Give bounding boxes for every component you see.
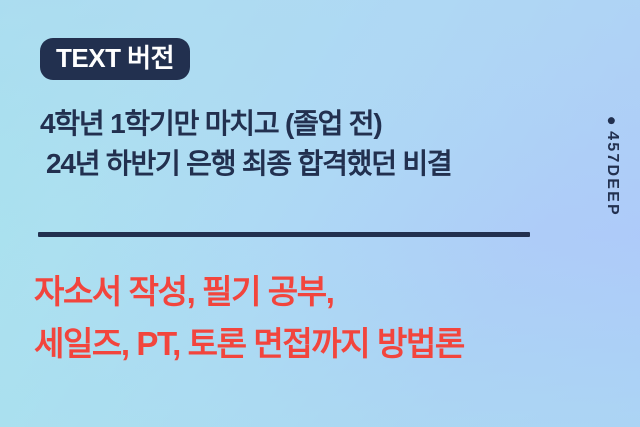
- subheadline-block: 자소서 작성, 필기 공부, 세일즈, PT, 토론 면접까지 방법론: [34, 266, 614, 370]
- subheadline-line-1: 자소서 작성, 필기 공부,: [34, 266, 614, 318]
- brand-name: 457DEEP: [603, 131, 621, 217]
- poster-canvas: TEXT 버전 4학년 1학기만 마치고 (졸업 전) 24년 하반기 은행 최…: [0, 0, 640, 427]
- brand-vertical-label: 457DEEP: [603, 117, 621, 217]
- bullet-dot-icon: [609, 117, 616, 124]
- text-version-badge: TEXT 버전: [40, 38, 190, 80]
- headline-block: 4학년 1학기만 마치고 (졸업 전) 24년 하반기 은행 최종 합격했던 비…: [40, 104, 560, 184]
- subheadline-line-2: 세일즈, PT, 토론 면접까지 방법론: [34, 318, 614, 370]
- badge-container: TEXT 버전: [40, 38, 190, 80]
- horizontal-divider: [38, 232, 530, 237]
- headline-line-1: 4학년 1학기만 마치고 (졸업 전): [40, 104, 560, 144]
- headline-line-2: 24년 하반기 은행 최종 합격했던 비결: [40, 144, 560, 184]
